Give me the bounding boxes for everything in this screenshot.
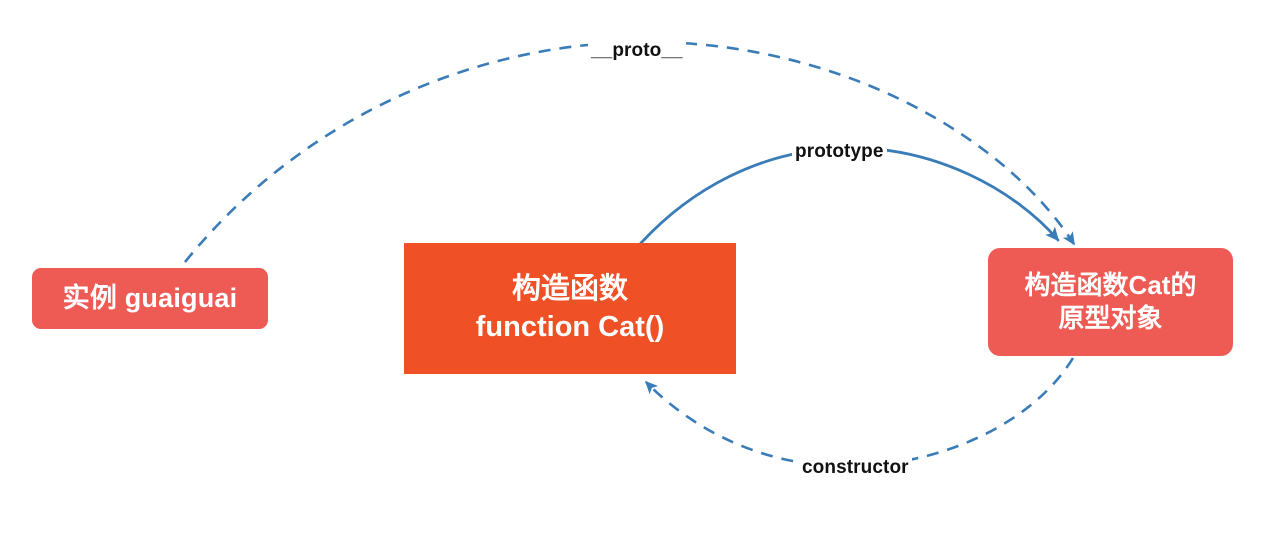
prototype-chain-diagram: 实例 guaiguai 构造函数 function Cat() 构造函数Cat的… (0, 0, 1280, 547)
node-constructor-function-label: 构造函数 function Cat() (466, 271, 674, 345)
edge-label-constructor: constructor (799, 457, 912, 479)
node-prototype-object-label: 构造函数Cat的 原型对象 (1015, 269, 1207, 336)
edge-label-prototype: prototype (792, 141, 887, 163)
edge-constructor-path (646, 358, 1073, 466)
node-constructor-function[interactable]: 构造函数 function Cat() (404, 243, 736, 374)
node-prototype-object[interactable]: 构造函数Cat的 原型对象 (988, 248, 1233, 356)
edge-proto-path (185, 42, 1074, 262)
node-instance-label: 实例 guaiguai (53, 281, 248, 316)
edge-label-proto: __proto__ (588, 40, 686, 62)
node-instance[interactable]: 实例 guaiguai (32, 268, 268, 329)
